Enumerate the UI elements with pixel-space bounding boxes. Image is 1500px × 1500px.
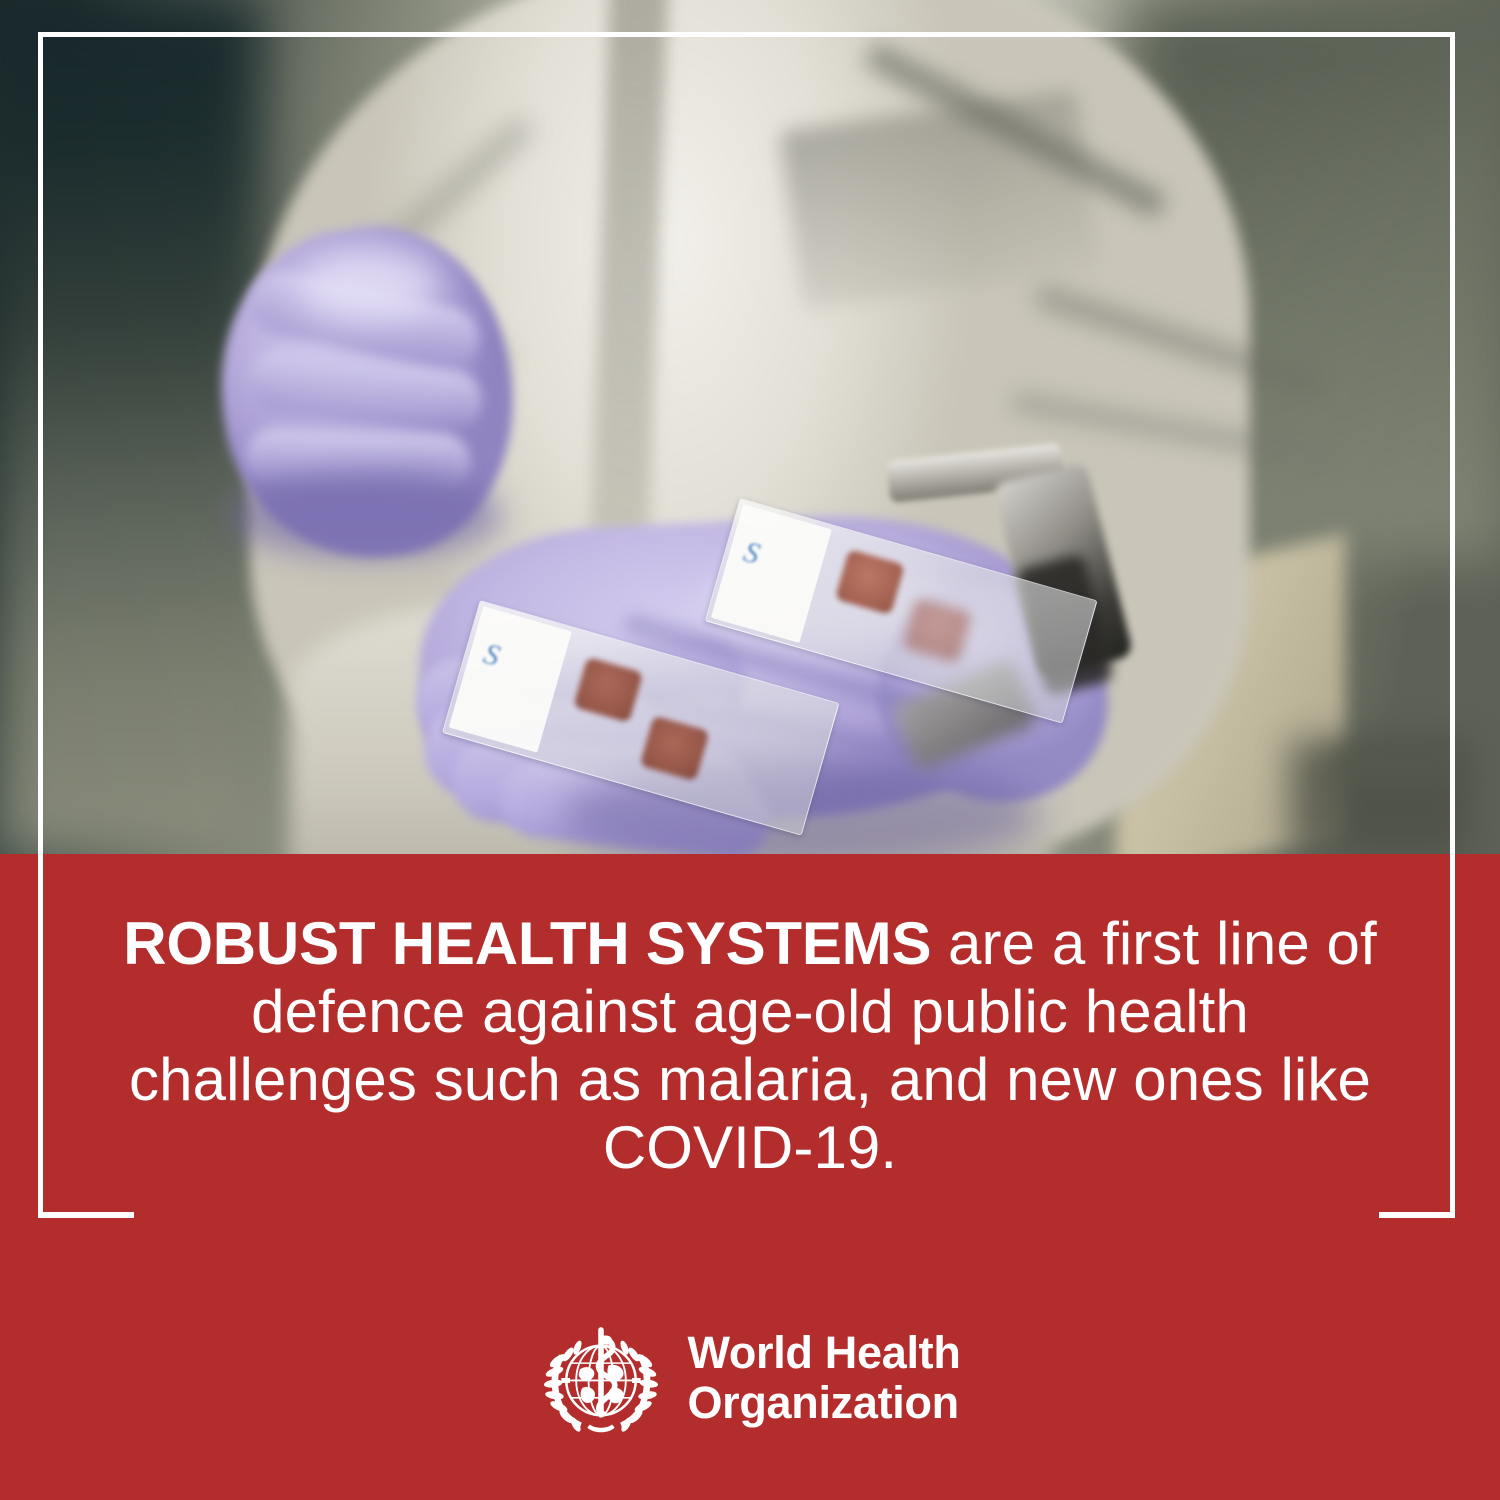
background-left-shadow (0, 0, 260, 854)
lab-technician-photo: S S (0, 0, 1500, 854)
who-emblem-icon (539, 1316, 663, 1440)
gloved-fist-highlight (300, 250, 440, 320)
who-social-poster: S S ROBUST HEALTH SYSTEMS are a first li… (0, 0, 1500, 1500)
slide-label-marking: S (480, 637, 547, 686)
headline-lead: ROBUST HEALTH SYSTEMS (123, 910, 931, 977)
who-wordmark: World Health Organization (687, 1328, 960, 1428)
who-wordmark-line2: Organization (687, 1378, 960, 1428)
blood-smear-sample (640, 715, 710, 781)
blood-smear-sample (835, 549, 905, 615)
who-logo: World Health Organization (0, 1316, 1500, 1440)
headline-message: ROBUST HEALTH SYSTEMS are a first line o… (0, 910, 1500, 1182)
blood-smear-sample (902, 597, 972, 663)
blood-smear-sample (573, 657, 643, 723)
slide-label-marking: S (740, 535, 807, 584)
who-wordmark-line1: World Health (687, 1328, 960, 1378)
lab-equipment-dark-detail (1330, 745, 1460, 785)
gloved-fist-shadow (232, 470, 502, 560)
